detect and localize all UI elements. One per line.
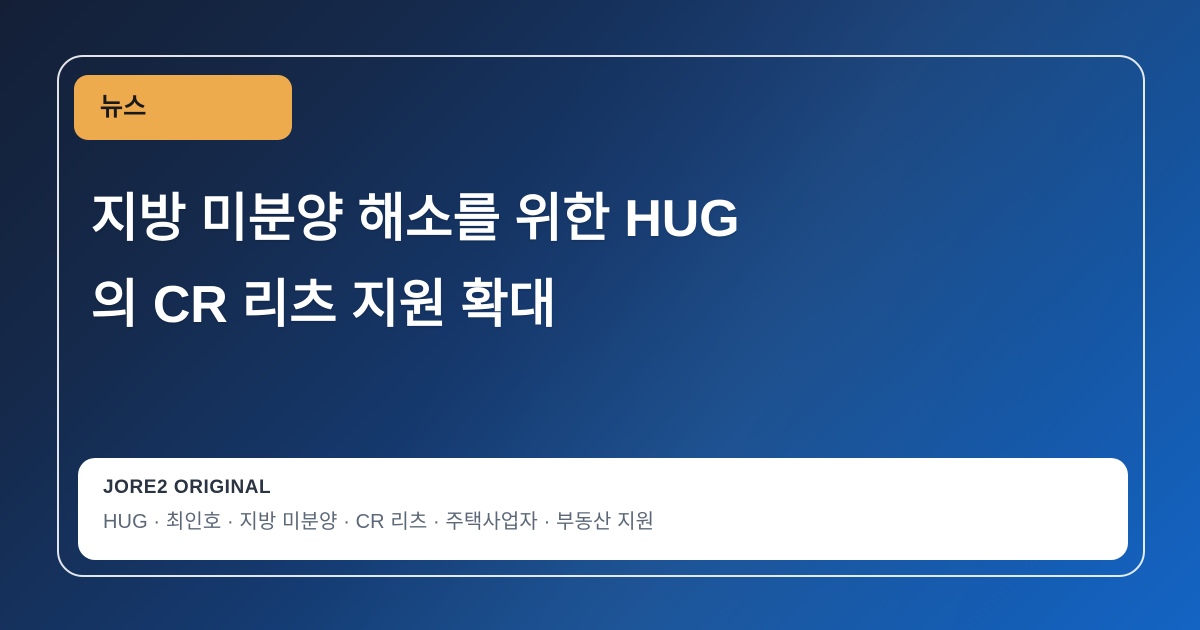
category-badge-label: 뉴스 [74,95,147,120]
brand-label: JORE2 ORIGINAL [103,476,1128,500]
og-image-canvas: 뉴스 지방 미분양 해소를 위한 HUG 의 CR 리츠 지원 확대 JORE2… [0,0,1200,630]
tag-list: HUG · 최인호 · 지방 미분양 · CR 리츠 · 주택사업자 · 부동산… [103,509,1128,535]
headline-line-1: 지방 미분양 해소를 위한 HUG [91,176,991,262]
headline-line-2: 의 CR 리츠 지원 확대 [91,262,991,348]
category-badge[interactable]: 뉴스 [74,75,292,140]
footer-panel: JORE2 ORIGINAL HUG · 최인호 · 지방 미분양 · CR 리… [78,458,1128,560]
headline-title: 지방 미분양 해소를 위한 HUG 의 CR 리츠 지원 확대 [91,176,991,348]
